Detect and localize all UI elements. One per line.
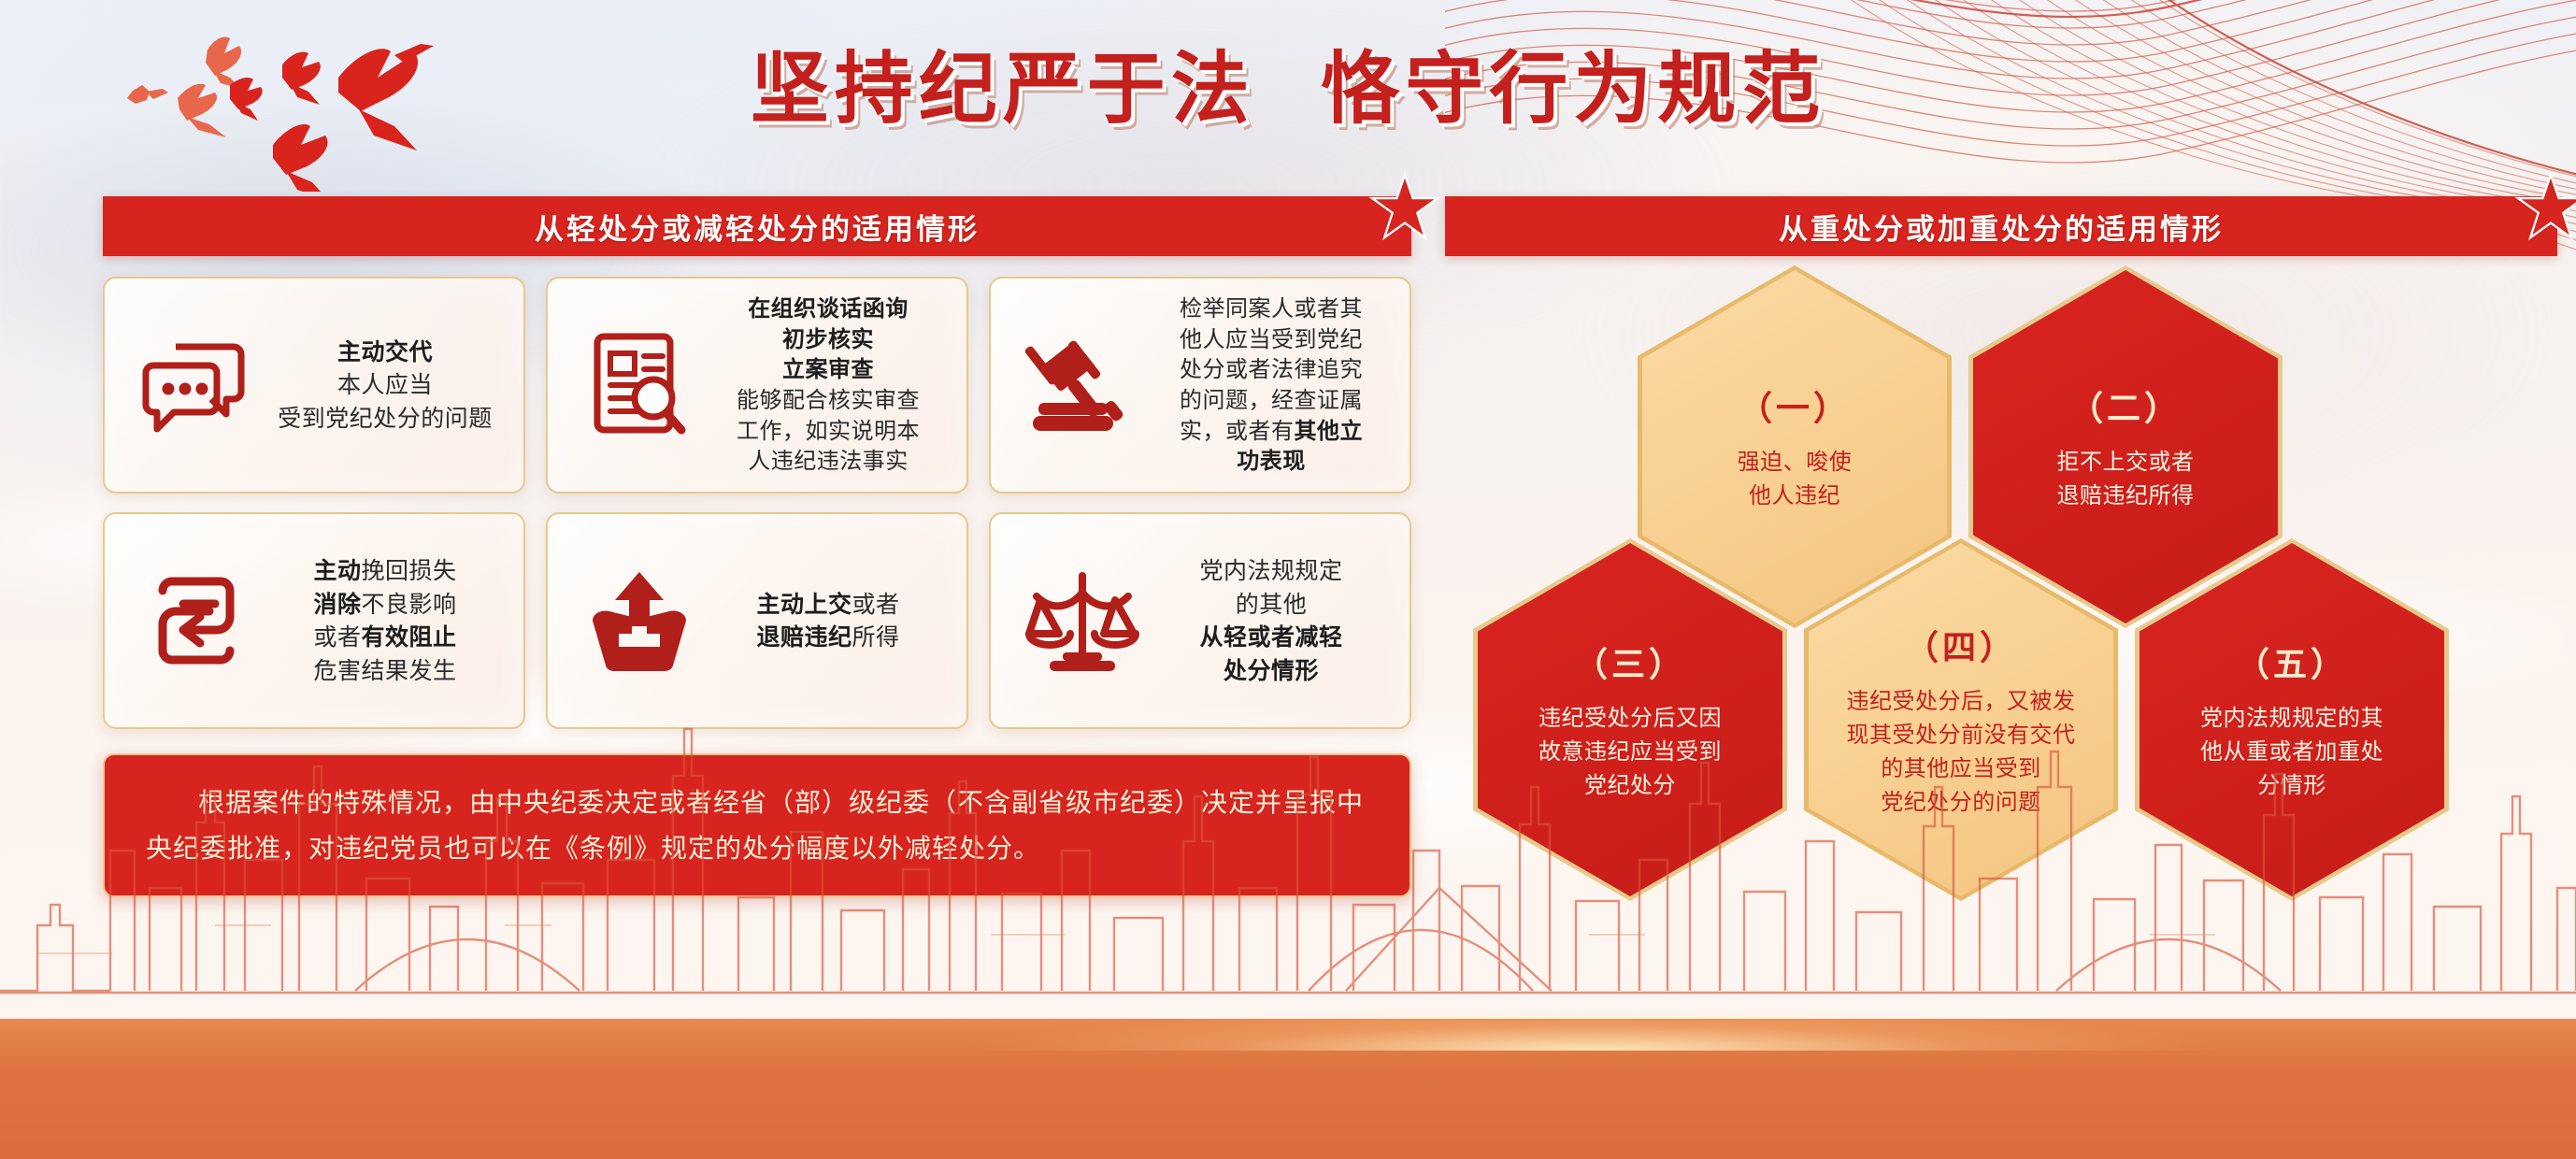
card-text: 主动交代 本人应当 受到党纪处分的问题 bbox=[267, 336, 503, 436]
hexagon-label: （三） bbox=[1574, 637, 1686, 686]
card-line: 受到党纪处分的问题 bbox=[267, 402, 503, 436]
card-other-lenient-rules[interactable]: 党内法规规定的其他从轻或者减轻处分情形 bbox=[989, 512, 1411, 729]
card-text: 党内法规规定的其他从轻或者减轻处分情形 bbox=[1153, 554, 1389, 687]
card-voluntary-confession[interactable]: 主动交代 本人应当 受到党纪处分的问题 bbox=[103, 277, 525, 494]
card-organization-inquiry[interactable]: 在组织谈话函询 初步核实 立案审查 能够配合核实审查 工作，如实说明本 人违纪违… bbox=[546, 277, 968, 494]
card-rich-text: 主动挽回损失消除不良影响或者有效阻止危害结果发生 bbox=[267, 554, 503, 687]
card-recover-losses[interactable]: 主动挽回损失消除不良影响或者有效阻止危害结果发生 bbox=[103, 512, 525, 729]
return-arrow-icon bbox=[125, 566, 267, 675]
card-rich-text: 主动上交或者退赔违纪所得 bbox=[710, 588, 946, 654]
hexagon-label: （一） bbox=[1739, 381, 1851, 430]
page-title: 坚持纪严于法 恪守行为规范 bbox=[0, 26, 2576, 139]
hexagon-label: （四） bbox=[1905, 621, 2017, 669]
card-line: 工作，如实说明本 bbox=[710, 416, 946, 447]
card-surrender-gains[interactable]: 主动上交或者退赔违纪所得 bbox=[546, 512, 968, 729]
hexagon-label: （二） bbox=[2069, 381, 2182, 430]
left-cards-grid: 主动交代 本人应当 受到党纪处分的问题 bbox=[103, 277, 1411, 729]
card-line: 本人应当 bbox=[267, 368, 503, 402]
gavel-icon bbox=[1011, 330, 1153, 440]
card-line: 能够配合核实审查 bbox=[710, 385, 946, 416]
hexagon-label: （五） bbox=[2236, 637, 2348, 686]
right-section-title: 从重处分或加重处分的适用情形 bbox=[1779, 206, 2224, 248]
five-point-star-icon bbox=[1368, 172, 1441, 245]
card-rich-text: 党内法规规定的其他从轻或者减轻处分情形 bbox=[1153, 554, 1389, 687]
card-line: 在组织谈话函询 bbox=[748, 295, 909, 322]
speech-bubbles-icon bbox=[125, 334, 267, 436]
card-report-accomplice[interactable]: 检举同案人或者其他人应当受到党纪处分或者法律追究的问题，经查证属实，或者有其他立… bbox=[989, 277, 1411, 494]
card-text: 主动挽回损失消除不良影响或者有效阻止危害结果发生 bbox=[267, 554, 503, 687]
hand-up-arrow-icon bbox=[568, 568, 710, 673]
ground-band bbox=[0, 1019, 2576, 1159]
card-line: 人违纪违法事实 bbox=[710, 446, 946, 477]
hexagon-body: 拒不上交或者退赔违纪所得 bbox=[2057, 445, 2195, 512]
five-point-star-icon bbox=[2514, 172, 2576, 245]
balance-scale-icon bbox=[1011, 565, 1153, 677]
document-magnifier-icon bbox=[568, 327, 710, 443]
poster-root: 坚持纪严于法 恪守行为规范 从轻处分或减轻处分的适用情形 bbox=[0, 0, 2576, 1159]
left-section-title: 从轻处分或减轻处分的适用情形 bbox=[535, 206, 980, 248]
card-text: 在组织谈话函询 初步核实 立案审查 能够配合核实审查 工作，如实说明本 人违纪违… bbox=[710, 293, 946, 477]
left-section-header: 从轻处分或减轻处分的适用情形 bbox=[103, 196, 1411, 256]
card-line: 主动交代 bbox=[337, 338, 433, 365]
card-line: 初步核实 bbox=[782, 326, 874, 352]
hexagon-body: 强迫、唆使他人违纪 bbox=[1738, 445, 1853, 512]
card-text: 检举同案人或者其他人应当受到党纪处分或者法律追究的问题，经查证属实，或者有其他立… bbox=[1153, 293, 1389, 477]
card-rich-text: 检举同案人或者其他人应当受到党纪处分或者法律追究的问题，经查证属实，或者有其他立… bbox=[1153, 293, 1389, 477]
card-line: 立案审查 bbox=[782, 356, 874, 382]
right-section-header: 从重处分或加重处分的适用情形 bbox=[1445, 196, 2557, 256]
card-text: 主动上交或者退赔违纪所得 bbox=[710, 588, 946, 654]
